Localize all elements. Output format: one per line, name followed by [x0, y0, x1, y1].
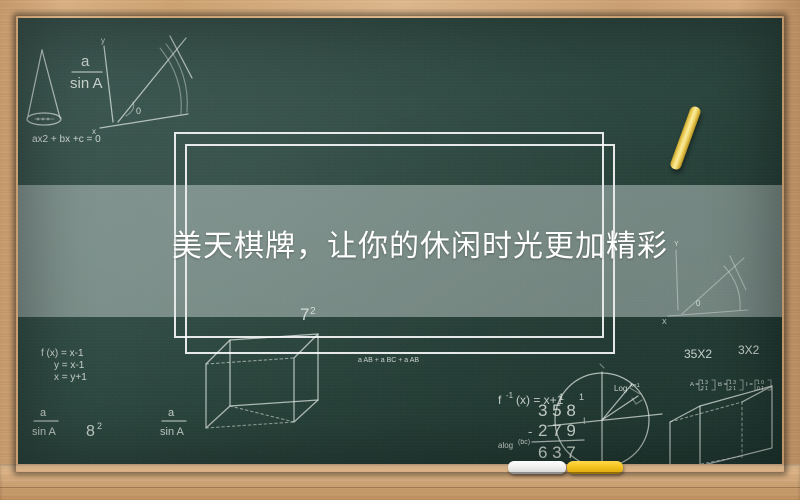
frame-inner-shadow	[16, 16, 784, 472]
ledge-groove	[0, 487, 800, 488]
blackboard-banner: a sin A ax2 + bx +c = 0 y x	[0, 0, 800, 500]
